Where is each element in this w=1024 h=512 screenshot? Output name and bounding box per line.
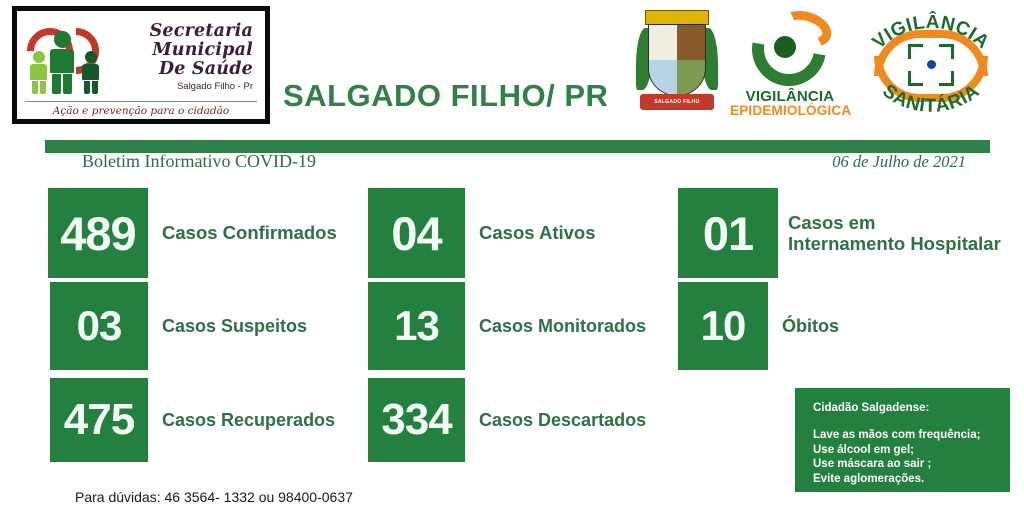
stat-casos-internamento-hospitalar: 01 Casos em Internamento Hospitalar xyxy=(678,188,1001,278)
stat-value: 475 xyxy=(50,378,148,462)
info-box-line-4: Evite aglomerações. xyxy=(813,472,1010,487)
vigilancia-epi-line-2: EPIDEMIOLÓGICA xyxy=(730,103,850,118)
shield-icon xyxy=(648,24,706,96)
stat-label: Casos Monitorados xyxy=(465,316,646,337)
crown-icon xyxy=(645,10,709,25)
page-title: SALGADO FILHO/ PR xyxy=(283,78,608,114)
stat-casos-descartados: 334 Casos Descartados xyxy=(368,378,646,462)
vigilancia-san-line-1: VIGILÂNCIA xyxy=(869,11,994,53)
bulletin-title: Boletim Informativo COVID-19 xyxy=(82,151,316,172)
logo-line-3: De Saúde xyxy=(119,60,253,79)
stat-value: 03 xyxy=(50,282,148,370)
stat-casos-suspeitos: 03 Casos Suspeitos xyxy=(50,282,307,370)
logo-line-1: Secretaria xyxy=(119,22,253,41)
stat-value: 01 xyxy=(678,188,778,278)
info-box-heading: Cidadão Salgadense: xyxy=(813,402,1010,414)
vigilancia-san-line-2: SANITÁRIA xyxy=(878,80,983,116)
stat-value: 489 xyxy=(48,188,148,278)
logo-slogan: Ação e prevenção para o cidadão xyxy=(17,102,265,117)
child-left-figure-icon xyxy=(30,51,47,94)
coat-of-arms-icon: SALGADO FILHO xyxy=(636,8,718,120)
adult-figure-icon xyxy=(50,31,74,94)
stat-value: 334 xyxy=(368,378,465,462)
logo-city-label: Salgado Filho - Pr xyxy=(119,81,253,92)
stat-label: Casos em Internamento Hospitalar xyxy=(778,212,1001,255)
covid-bulletin-page: Secretaria Municipal De Saúde Salgado Fi… xyxy=(0,0,1024,512)
stat-casos-recuperados: 475 Casos Recuperados xyxy=(50,378,335,462)
green-dot-icon xyxy=(774,36,796,58)
coat-of-arms-ribbon: SALGADO FILHO xyxy=(640,94,714,110)
stat-label: Casos Ativos xyxy=(465,222,596,243)
vigilancia-sanitaria-logo: VIGILÂNCIA SANITÁRIA xyxy=(856,6,1006,122)
stat-label: Óbitos xyxy=(768,316,839,337)
logo-top-row: Secretaria Municipal De Saúde Salgado Fi… xyxy=(17,14,265,100)
stat-value: 04 xyxy=(368,188,465,278)
stat-value: 13 xyxy=(368,282,465,370)
logo-wordmark: Secretaria Municipal De Saúde Salgado Fi… xyxy=(119,22,259,92)
child-right-figure-icon xyxy=(82,51,99,94)
contact-footer: Para dúvidas: 46 3564- 1332 ou 98400-063… xyxy=(75,489,353,505)
stat-casos-confirmados: 489 Casos Confirmados xyxy=(48,188,337,278)
stat-casos-monitorados: 13 Casos Monitorados xyxy=(368,282,646,370)
family-heart-illustration xyxy=(23,18,119,96)
stat-value: 10 xyxy=(678,282,768,370)
prevention-info-box: Cidadão Salgadense: Lave as mãos com fre… xyxy=(795,388,1010,492)
vigilancia-epidemiologica-logo: VIGILÂNCIA EPIDEMIOLÓGICA xyxy=(730,8,850,120)
logo-line-2: Municipal xyxy=(119,41,253,60)
stat-label: Casos Suspeitos xyxy=(148,316,307,337)
sanitaria-curved-text: VIGILÂNCIA SANITÁRIA xyxy=(856,6,1006,122)
stat-label: Casos Recuperados xyxy=(148,410,335,431)
stat-obitos: 10 Óbitos xyxy=(678,282,839,370)
stat-label: Casos Confirmados xyxy=(148,222,337,243)
info-box-line-3: Use máscara ao sair ; xyxy=(813,457,1010,472)
bulletin-date: 06 de Julho de 2021 xyxy=(832,152,966,172)
stat-label: Casos Descartados xyxy=(465,410,646,431)
secretaria-municipal-saude-logo: Secretaria Municipal De Saúde Salgado Fi… xyxy=(12,6,270,124)
info-box-line-1: Lave as mãos com frequência; xyxy=(813,428,1010,443)
info-box-line-2: Use álcool em gel; xyxy=(813,443,1010,458)
stat-casos-ativos: 04 Casos Ativos xyxy=(368,188,596,278)
